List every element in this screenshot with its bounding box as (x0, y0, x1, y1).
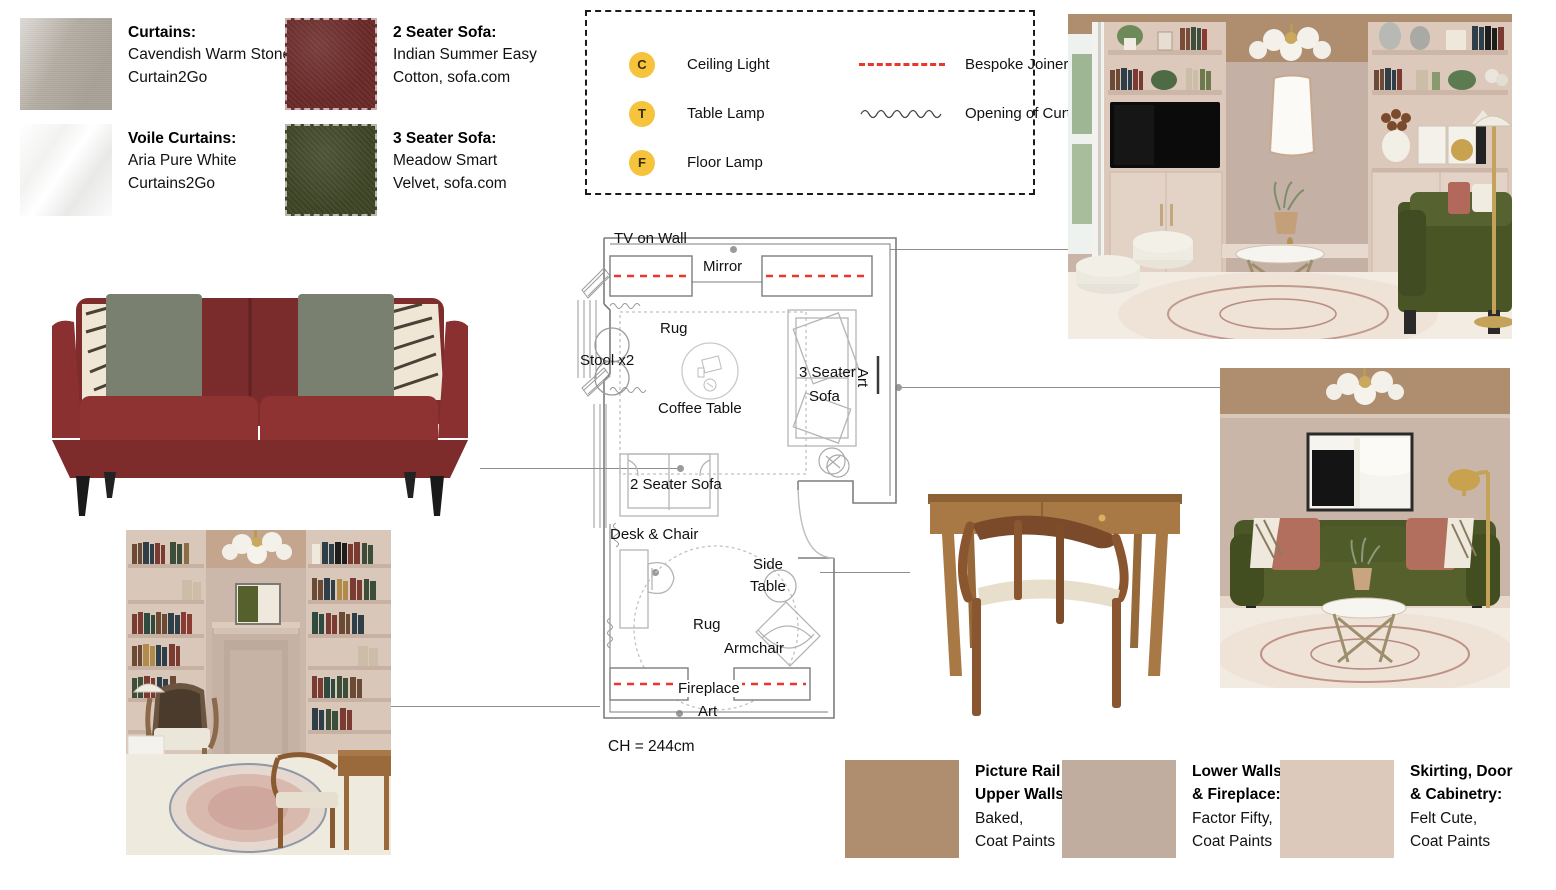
sage-cushion-left (106, 294, 202, 400)
render-library (126, 530, 391, 855)
curtains-swatch-chip (20, 18, 112, 110)
paint-swatch-picture-rail: Picture Rail & Upper Walls: Baked, Coat … (845, 760, 1076, 858)
voile-curtains-swatch-product: Aria Pure White (128, 150, 237, 172)
rug-label-study: Rug (693, 616, 721, 633)
three-seater-sofa-swatch-chip (285, 124, 377, 216)
legend-row-ceiling-light: C Ceiling Light Bespoke Joinery (629, 40, 1098, 89)
photo-red-sofa (40, 280, 480, 530)
paint-chip-picture-rail (845, 760, 959, 858)
two-seater-sofa-swatch-supplier: Cotton, sofa.com (393, 67, 537, 89)
armchair-label: Armchair (724, 640, 784, 657)
paint-title-picture-rail-1: Picture Rail & (975, 760, 1076, 783)
legend-row-floor-lamp: F Floor Lamp (629, 138, 1098, 187)
paint-product-skirting: Felt Cute, (1410, 807, 1512, 830)
paint-title-lower-walls-2: & Fireplace: (1192, 783, 1282, 806)
rug-label-living: Rug (660, 320, 688, 337)
legend-label-floor-lamp: Floor Lamp (687, 154, 859, 171)
two-seater-label: 2 Seater Sofa (630, 476, 722, 493)
drawer-knob (1099, 515, 1106, 522)
three-seater-label-2: Sofa (809, 388, 840, 405)
legend: C Ceiling Light Bespoke Joinery T Table … (585, 10, 1035, 195)
photo-desk (910, 480, 1200, 730)
three-seater-sofa-swatch-title: 3 Seater Sofa: (393, 128, 507, 150)
connector-sofa-wall (898, 387, 1222, 388)
floor-plan: TV on Wall Mirror Rug Stool x2 Coffee Ta… (548, 228, 908, 728)
render-sofa-wall (1220, 368, 1510, 688)
voile-curtains-swatch-title: Voile Curtains: (128, 128, 237, 150)
three-seater-label: 3 Seater (799, 364, 856, 381)
two-seater-sofa-swatch: 2 Seater Sofa: Indian Summer Easy Cotton… (285, 18, 537, 110)
curtains-swatch-supplier: Curtain2Go (128, 67, 291, 89)
three-seater-sofa-swatch: 3 Seater Sofa: Meadow Smart Velvet, sofa… (285, 124, 507, 216)
legend-row-table-lamp: T Table Lamp Opening of Curtains (629, 89, 1098, 138)
legend-label-bespoke-joinery: Bespoke Joinery (965, 56, 1076, 73)
paint-product-picture-rail: Baked, (975, 807, 1076, 830)
tv-on-wall-label: TV on Wall (614, 230, 687, 247)
paint-title-skirting-1: Skirting, Door (1410, 760, 1512, 783)
floor-lamp-icon: F (629, 150, 655, 176)
fireplace-label: Fireplace (676, 680, 742, 697)
table-lamp-icon: T (629, 101, 655, 127)
curtains-swatch: Curtains: Cavendish Warm Stone Curtain2G… (20, 18, 291, 110)
side-table-label-2: Table (750, 578, 786, 595)
sage-cushion-right (298, 294, 394, 400)
coffee-table-label: Coffee Table (658, 400, 742, 417)
stool-label: Stool x2 (580, 352, 634, 369)
two-seater-sofa-swatch-product: Indian Summer Easy (393, 44, 537, 66)
paint-supplier-picture-rail: Coat Paints (975, 830, 1076, 853)
fireplace-joinery-right (734, 668, 810, 700)
three-seater-sofa-swatch-product: Meadow Smart (393, 150, 507, 172)
paint-swatch-lower-walls: Lower Walls & Fireplace: Factor Fifty, C… (1062, 760, 1282, 858)
paint-supplier-skirting: Coat Paints (1410, 830, 1512, 853)
paint-supplier-lower-walls: Coat Paints (1192, 830, 1282, 853)
desk-chair-label: Desk & Chair (610, 526, 698, 543)
connector-tv-wall (890, 249, 1070, 250)
bespoke-joinery-line-icon (859, 63, 955, 66)
art-label-right: Art (854, 368, 871, 387)
chair-leg-front-right (1112, 598, 1121, 708)
desk-and-chair-plan (620, 550, 674, 628)
legend-label-table-lamp: Table Lamp (687, 105, 859, 122)
three-seater-sofa-swatch-supplier: Velvet, sofa.com (393, 173, 507, 195)
legend-label-ceiling-light: Ceiling Light (687, 56, 859, 73)
paint-product-lower-walls: Factor Fifty, (1192, 807, 1282, 830)
paint-swatch-skirting: Skirting, Door & Cabinetry: Felt Cute, C… (1280, 760, 1512, 858)
chair-leg-back-right (1056, 524, 1064, 624)
curtains-swatch-title: Curtains: (128, 22, 291, 44)
side-table-label: Side (753, 556, 783, 573)
paint-title-picture-rail-2: Upper Walls: (975, 783, 1076, 806)
living-rug-outline (620, 312, 806, 474)
render-tv-wall (1068, 14, 1512, 339)
voile-curtains-swatch: Voile Curtains: Aria Pure White Curtains… (20, 124, 237, 216)
paint-chip-lower-walls (1062, 760, 1176, 858)
paint-chip-skirting (1280, 760, 1394, 858)
paint-title-lower-walls-1: Lower Walls (1192, 760, 1282, 783)
wavy-line-icon (859, 105, 955, 123)
curtains-swatch-product: Cavendish Warm Stone (128, 44, 291, 66)
two-seater-sofa-swatch-chip (285, 18, 377, 110)
ceiling-height-label: CH = 244cm (608, 738, 695, 756)
mirror-joinery-unit (762, 256, 872, 296)
paint-title-skirting-2: & Cabinetry: (1410, 783, 1512, 806)
chair-leg-front-left (972, 598, 981, 716)
ceiling-light-icon: C (629, 52, 655, 78)
voile-curtains-swatch-supplier: Curtains2Go (128, 173, 237, 195)
mirror-label: Mirror (703, 258, 742, 275)
voile-curtains-swatch-chip (20, 124, 112, 216)
chair-leg-back-left (1014, 520, 1022, 600)
two-seater-sofa-swatch-title: 2 Seater Sofa: (393, 22, 537, 44)
art-label-bottom: Art (698, 703, 717, 720)
